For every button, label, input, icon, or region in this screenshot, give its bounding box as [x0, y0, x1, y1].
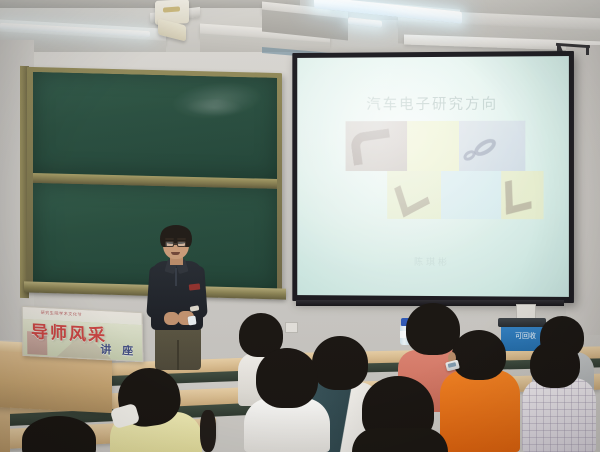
presenter-trouser-seam [177, 340, 179, 370]
presenter-hair-side-right [185, 231, 192, 247]
presenter-eyebrow-right [177, 238, 186, 240]
slide-title: 汽车电子研究方向 [297, 92, 569, 114]
banner-top-text: 研究生院学术文化节 [41, 310, 83, 318]
banner-sub-text: 讲 座 [100, 341, 137, 359]
slide-image-collage [346, 121, 526, 220]
student-dark-front-head [200, 410, 216, 452]
student-navy-stripe-head [312, 336, 368, 390]
blackboard-glare-secondary [185, 98, 243, 117]
presenter-eyeglasses-right-lens [177, 241, 186, 247]
presenter-eyeglasses-bridge [174, 243, 177, 245]
student-orange-head [452, 330, 506, 380]
collage-glyph-check-right-icon [505, 175, 532, 214]
student-white-left-head [256, 348, 318, 408]
blackboard [27, 67, 282, 295]
student-checkered-shirt [522, 378, 596, 452]
collage-glyph-pipe-icon [349, 128, 393, 165]
collage-tile-blue [441, 171, 501, 219]
blackboard-inner [33, 72, 277, 290]
presenter-shirt-placket [175, 268, 177, 286]
collage-tile-yellow [407, 121, 459, 171]
blackboard-panel-top [33, 72, 277, 179]
slide-presenter-name: 陈琪彬 [297, 254, 569, 268]
banner-main-text: 导师风采 [31, 317, 107, 346]
presenter-eyebrow-left [165, 238, 174, 240]
presenter-remote-pointer [187, 315, 196, 325]
recycle-bin-lid [498, 318, 546, 327]
recycle-bin-label: 可回收 [515, 331, 536, 341]
presenter-shirt-logo [189, 283, 201, 290]
podium-banner: 研究生院学术文化节 导师风采 讲 座 [22, 306, 144, 362]
bench-side-panel-left [0, 404, 10, 452]
student-dark-bottom-shoulders [352, 428, 448, 452]
lecture-hall-photo: PHILIPS 汽车电子研究方向 [0, 0, 600, 452]
student-salmon-head [406, 303, 460, 355]
projection-screen: 汽车电子研究方向 陈琪彬 [292, 51, 574, 303]
projection-screen-surface: 汽车电子研究方向 陈琪彬 [297, 56, 569, 297]
student-checkered-head [530, 340, 580, 388]
presenter-left-hand [164, 312, 179, 325]
presenter-eyeglasses-left-lens [165, 241, 174, 247]
wall-outlet [285, 322, 298, 333]
student-orange-shirt [440, 370, 520, 452]
